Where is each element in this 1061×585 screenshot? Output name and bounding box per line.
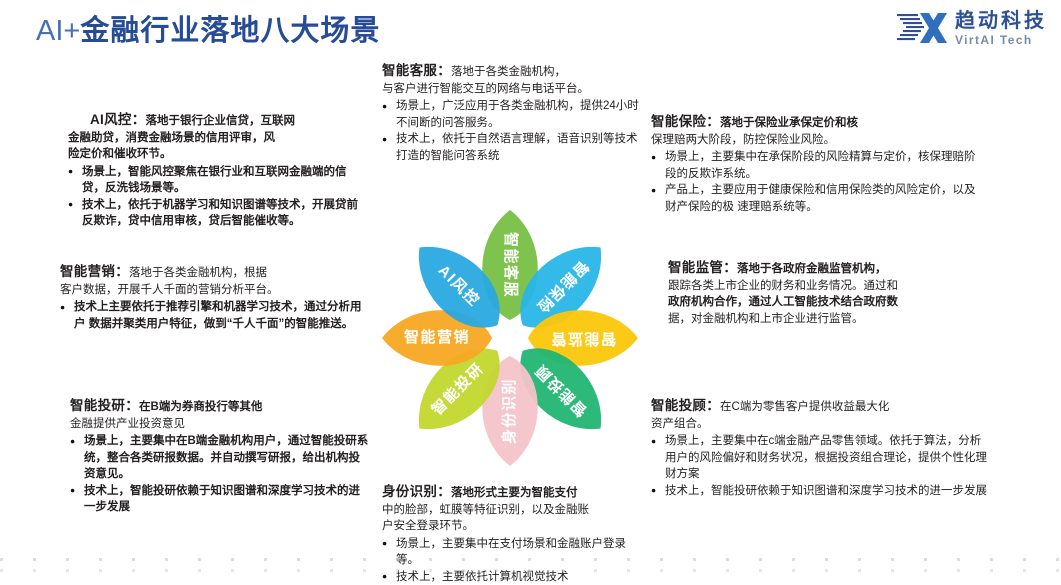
list-item: 技术上，依托于机器学习和知识图谱等技术，开展贷前反欺诈，贷中信用审核，贷后智能催…	[68, 197, 364, 230]
block-ai-fengkong-colon: ：	[132, 112, 146, 127]
block-zhineng-touyan-heading: 智能投研	[70, 398, 125, 413]
block-zhineng-touyan: 智能投研：在B端为券商投行等其他 金融提供产业投资意见 场景上，主要集中在B端金…	[70, 398, 370, 516]
petal-label-zhineng-jianguan: 智能监管	[550, 330, 616, 348]
block-zhineng-tougu-colon: ：	[706, 398, 720, 413]
footer-decoration	[0, 549, 1061, 575]
block-zhineng-jianguan-lead-2: 跟踪各类上市企业的财务和业务情况。通过和	[668, 280, 898, 292]
petal-label-zhineng-yingxiao: 智能营销	[404, 328, 470, 346]
block-zhineng-kefu-lead-1: 落地于各类金融机构，	[451, 66, 566, 78]
block-zhineng-tougu-lead: 智能投顾：在C端为零售客户提供收益最大化 资产组合。	[651, 398, 991, 432]
block-zhineng-baoxian-lead: 智能保险：落地于保险业承保定价和核 保理赔两大阶段，防控保险业风险。	[651, 114, 981, 148]
block-zhineng-touyan-lead: 智能投研：在B端为券商投行等其他 金融提供产业投资意见	[70, 398, 370, 432]
block-zhineng-kefu: 智能客服：落地于各类金融机构， 与客户进行智能交互的网络与电话平台。 场景上，广…	[382, 63, 644, 164]
list-item: 技术上，智能投研依赖于知识图谱和深度学习技术的进一步发展	[651, 483, 991, 500]
block-ai-fengkong-lead-3: 险定价和催收环节。	[68, 148, 172, 160]
block-zhineng-touyan-lead-1: 在B端为券商投行等其他	[139, 401, 262, 413]
list-item: 场景上，主要集中在B端金融机构用户，通过智能投研系统，整合各类研报数据。并自动撰…	[70, 433, 370, 483]
block-ai-fengkong: AI风控：落地于银行企业信贷，互联网 金融助贷，消费金融场景的信用评审，风 险定…	[68, 112, 364, 230]
block-ai-fengkong-lead-1: 落地于银行企业信贷，互联网	[146, 115, 296, 127]
block-zhineng-jianguan-lead: 智能监管：落地于各政府金融监管机构， 跟踪各类上市企业的财务和业务情况。通过和 …	[668, 260, 990, 327]
block-zhineng-baoxian-lead-1: 落地于保险业承保定价和核	[720, 117, 858, 129]
brand-logo: 趋动科技 VirtAI Tech	[896, 8, 1047, 48]
block-zhineng-touyan-colon: ：	[125, 398, 139, 413]
block-zhineng-tougu: 智能投顾：在C端为零售客户提供收益最大化 资产组合。 场景上，主要集中在c端金融…	[651, 398, 991, 499]
petal-label-zhineng-kefu: 智能客服	[502, 232, 520, 298]
block-ai-fengkong-heading: AI风控	[68, 112, 132, 127]
brand-text: 趋动科技 VirtAI Tech	[955, 11, 1047, 46]
block-zhineng-yingxiao-colon: ：	[115, 264, 129, 279]
flower-svg: 智能客服智能保险智能监管智能投顾身份识别智能投研智能营销AI风控	[355, 190, 665, 480]
block-zhineng-kefu-heading: 智能客服	[382, 63, 437, 78]
list-item: 场景上，广泛应用于各类金融机构，提供24小时不间断的问答服务。	[382, 98, 644, 131]
list-item: 场景上，智能风控聚焦在银行业和互联网金融端的信贷，反洗钱场景等。	[68, 164, 364, 197]
block-zhineng-tougu-bullets: 场景上，主要集中在c端金融产品零售领域。依托于算法，分析用户的风险偏好和财务状况…	[651, 433, 991, 499]
slide-header: AI+金融行业落地八大场景 趋动科技 VirtAI Tech	[0, 0, 1061, 62]
block-zhineng-jianguan: 智能监管：落地于各政府金融监管机构， 跟踪各类上市企业的财务和业务情况。通过和 …	[668, 260, 990, 328]
footer-dot-row-bottom	[0, 569, 1061, 572]
block-zhineng-baoxian-bullets: 场景上，主要集中在承保阶段的风险精算与定价，核保理赔阶段的反欺诈系统。 产品上，…	[651, 149, 981, 215]
block-zhineng-yingxiao-lead-2: 客户数据，开展千人千面的营销分析平台。	[60, 284, 279, 296]
block-zhineng-jianguan-lead-1: 落地于各政府金融监管机构，	[737, 263, 887, 275]
block-zhineng-jianguan-colon: ：	[723, 260, 737, 275]
block-ai-fengkong-lead-2: 金融助贷，消费金融场景的信用评审，风	[68, 132, 275, 144]
block-zhineng-yingxiao-lead: 智能营销：落地于各类金融机构，根据 客户数据，开展千人千面的营销分析平台。	[60, 264, 366, 298]
block-zhineng-jianguan-lead-3: 政府机构合作，通过人工智能技术结合政府数	[668, 296, 898, 308]
block-shenfen-shibie-lead-1: 落地形式主要为智能支付	[451, 487, 578, 499]
list-item: 场景上，主要集中在承保阶段的风险精算与定价，核保理赔阶段的反欺诈系统。	[651, 149, 981, 182]
block-zhineng-jianguan-lead-4: 据，对金融机构和上市企业进行监管。	[668, 313, 864, 325]
block-shenfen-shibie-lead-2: 中的脸部，虹膜等特征识别，以及金融账	[382, 504, 589, 516]
list-item: 技术上主要依托于推荐引擎和机器学习技术，通过分析用户 数据并聚类用户特征，做到“…	[60, 299, 366, 332]
block-zhineng-yingxiao: 智能营销：落地于各类金融机构，根据 客户数据，开展千人千面的营销分析平台。 技术…	[60, 264, 366, 332]
brand-name-en: VirtAI Tech	[955, 34, 1047, 46]
block-zhineng-kefu-lead: 智能客服：落地于各类金融机构， 与客户进行智能交互的网络与电话平台。	[382, 63, 644, 97]
block-zhineng-touyan-lead-2: 金融提供产业投资意见	[70, 418, 185, 430]
eight-petal-flower-diagram: 智能客服智能保险智能监管智能投顾身份识别智能投研智能营销AI风控	[355, 190, 665, 480]
block-ai-fengkong-bullets: 场景上，智能风控聚焦在银行业和互联网金融端的信贷，反洗钱场景等。 技术上，依托于…	[68, 164, 364, 230]
block-zhineng-yingxiao-heading: 智能营销	[60, 264, 115, 279]
block-zhineng-kefu-lead-2: 与客户进行智能交互的网络与电话平台。	[382, 83, 589, 95]
footer-dot-row-top	[0, 558, 1061, 561]
block-shenfen-shibie-lead-3: 户安全登录环节。	[382, 520, 474, 532]
block-zhineng-tougu-lead-1: 在C端为零售客户提供收益最大化	[720, 401, 889, 413]
block-shenfen-shibie-lead: 身份识别：落地形式主要为智能支付 中的脸部，虹膜等特征识别，以及金融账 户安全登…	[382, 484, 648, 535]
brand-name-cn: 趋动科技	[955, 11, 1047, 31]
list-item: 产品上，主要应用于健康保险和信用保险类的风险定价，以及财产保险的极 速理赔系统等…	[651, 182, 981, 215]
block-zhineng-baoxian-lead-2: 保理赔两大阶段，防控保险业风险。	[651, 134, 835, 146]
block-zhineng-kefu-colon: ：	[437, 63, 451, 78]
block-shenfen-shibie-colon: ：	[437, 484, 451, 499]
x-arrow-logo-icon	[896, 8, 948, 48]
block-zhineng-baoxian-heading: 智能保险	[651, 114, 706, 129]
list-item: 技术上，智能投研依赖于知识图谱和深度学习技术的进一步发展	[70, 483, 370, 516]
page-title-prefix: AI+	[36, 15, 80, 47]
block-shenfen-shibie-heading: 身份识别	[382, 484, 437, 499]
block-zhineng-baoxian: 智能保险：落地于保险业承保定价和核 保理赔两大阶段，防控保险业风险。 场景上，主…	[651, 114, 981, 215]
list-item: 场景上，主要集中在c端金融产品零售领域。依托于算法，分析用户的风险偏好和财务状况…	[651, 433, 991, 483]
block-zhineng-jianguan-heading: 智能监管	[668, 260, 723, 275]
list-item: 技术上，依托于自然语言理解，语音识别等技术打造的智能问答系统	[382, 131, 644, 164]
block-ai-fengkong-lead: AI风控：落地于银行企业信贷，互联网 金融助贷，消费金融场景的信用评审，风 险定…	[68, 112, 364, 163]
page-title: AI+金融行业落地八大场景	[36, 8, 380, 54]
block-zhineng-yingxiao-bullets: 技术上主要依托于推荐引擎和机器学习技术，通过分析用户 数据并聚类用户特征，做到“…	[60, 299, 366, 332]
block-zhineng-yingxiao-lead-1: 落地于各类金融机构，根据	[129, 267, 267, 279]
block-zhineng-baoxian-colon: ：	[706, 114, 720, 129]
block-zhineng-touyan-bullets: 场景上，主要集中在B端金融机构用户，通过智能投研系统，整合各类研报数据。并自动撰…	[70, 433, 370, 516]
page-title-main: 金融行业落地八大场景	[80, 15, 380, 47]
petal-label-shenfen-shibie: 身份识别	[500, 378, 518, 444]
block-zhineng-kefu-bullets: 场景上，广泛应用于各类金融机构，提供24小时不间断的问答服务。 技术上，依托于自…	[382, 98, 644, 164]
